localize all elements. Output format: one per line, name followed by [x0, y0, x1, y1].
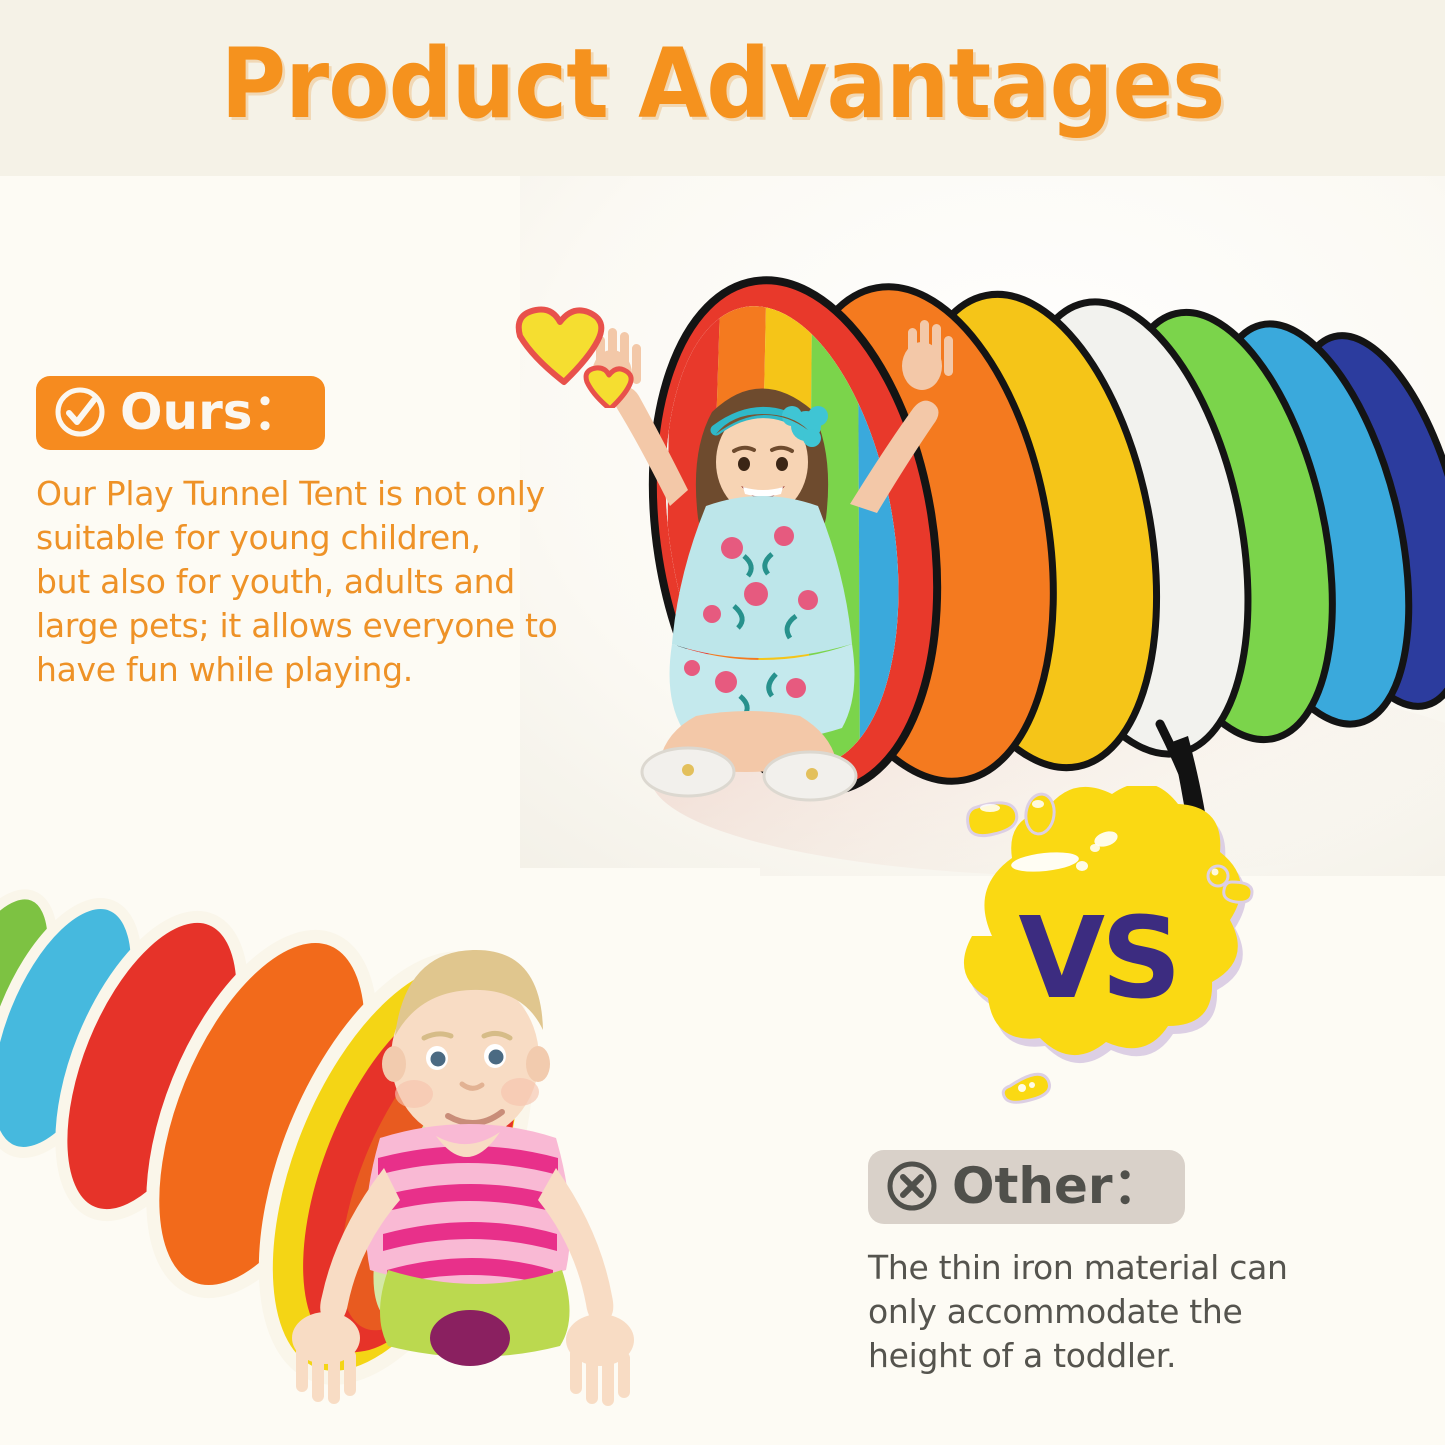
rainbow-play-tunnel-small — [0, 868, 760, 1445]
badge-ours-label: Ours： — [120, 387, 303, 437]
photo-bottom-panel — [0, 868, 760, 1445]
vs-badge: VS — [940, 786, 1260, 1126]
advertisement-canvas: Product Advantages — [0, 0, 1445, 1445]
other-block: Other： The thin iron material can only a… — [868, 1150, 1348, 1378]
badge-ours: Ours： — [36, 376, 325, 450]
page-title: Product Advantages — [51, 28, 1395, 140]
circle-check-icon — [52, 384, 108, 440]
rainbow-play-tunnel-large — [520, 176, 1445, 876]
badge-other: Other： — [868, 1150, 1185, 1224]
badge-other-label: Other： — [952, 1161, 1163, 1211]
vs-label: VS — [940, 786, 1260, 1126]
ours-block: Ours： Our Play Tunnel Tent is not only s… — [36, 376, 596, 691]
other-body-text: The thin iron material can only accommod… — [868, 1246, 1348, 1378]
circle-x-icon — [884, 1158, 940, 1214]
ours-body-text: Our Play Tunnel Tent is not only suitabl… — [36, 472, 596, 691]
photo-top-panel — [520, 176, 1445, 876]
